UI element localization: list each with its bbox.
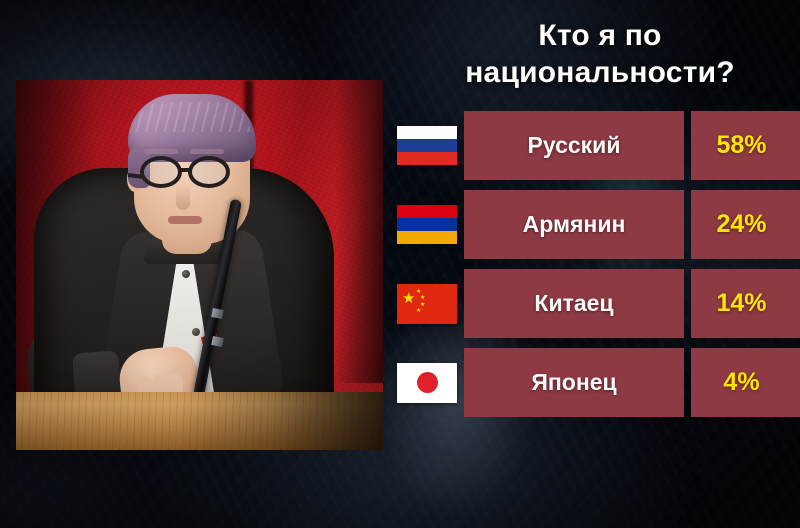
page-title: Кто я по национальности? [400,18,800,91]
row-divider [684,348,691,417]
poll-panel: Кто я по национальности? Русский 58% Арм… [390,0,800,528]
poll-option-label[interactable]: Русский [464,111,684,180]
row-divider [684,190,691,259]
title-line-1: Кто я по [400,18,800,55]
poll-option-row[interactable]: Армянин 24% [390,190,800,259]
poll-option-row[interactable]: Русский 58% [390,111,800,180]
flag-cell: ★ ★ ★ ★ ★ [390,269,464,338]
poll-option-label[interactable]: Китаец [464,269,684,338]
poll-option-label[interactable]: Японец [464,348,684,417]
flag-armenia-icon [397,205,457,245]
row-divider [684,111,691,180]
poll-option-percent: 4% [691,348,800,417]
flag-japan-icon [397,363,457,403]
flag-cell [390,111,464,180]
poll-option-row[interactable]: Японец 4% [390,348,800,417]
poll-option-percent: 14% [691,269,800,338]
flag-cell [390,348,464,417]
row-divider [684,269,691,338]
flag-cell [390,190,464,259]
poll-option-label[interactable]: Армянин [464,190,684,259]
title-line-2: национальности? [400,55,800,92]
portrait-photo [16,80,383,450]
photo-vignette [16,80,383,450]
poll-option-percent: 24% [691,190,800,259]
flag-russia-icon [397,126,457,166]
flag-china-icon: ★ ★ ★ ★ ★ [397,284,457,324]
poll-option-row[interactable]: ★ ★ ★ ★ ★ Китаец 14% [390,269,800,338]
poll-option-percent: 58% [691,111,800,180]
